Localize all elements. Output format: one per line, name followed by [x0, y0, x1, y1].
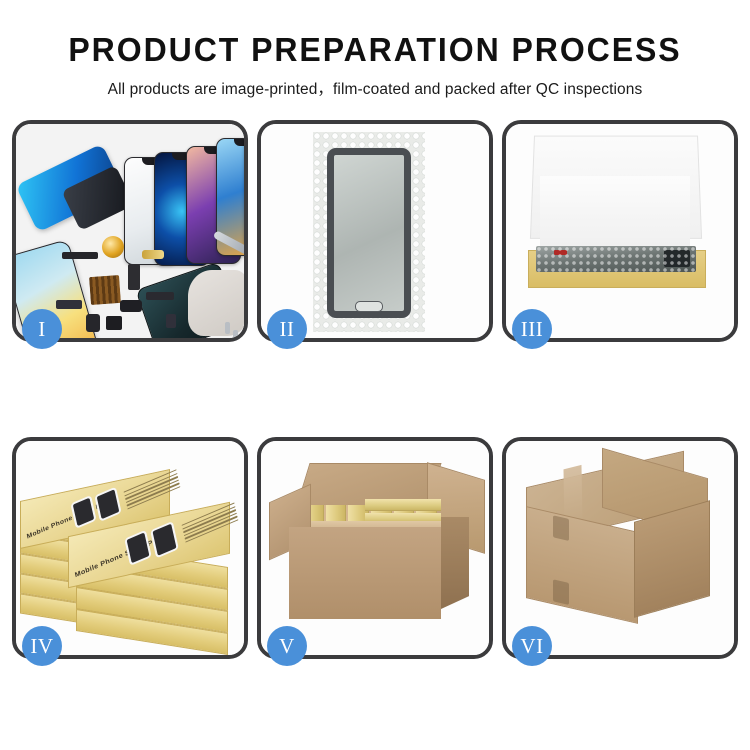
process-step-panel-4: Mobile Phone Spare Parts Mobile Phone Sp…: [12, 437, 248, 659]
box-stack: Mobile Phone Spare Parts Mobile Phone Sp…: [20, 463, 230, 643]
screw-part: [225, 322, 230, 334]
carton-right-face: [634, 500, 710, 618]
process-step-panel-6: VI: [502, 437, 738, 659]
wrapped-phone-screen: [327, 148, 411, 318]
process-step-panel-5: V: [257, 437, 493, 659]
bubble-wrap-sheet: [313, 132, 425, 332]
antenna-cable-part: [146, 292, 174, 300]
process-step-panel-2: II: [257, 120, 493, 342]
wrapped-screen-in-box: [536, 246, 696, 272]
page-title: PRODUCT PREPARATION PROCESS: [11, 33, 739, 66]
panel-4-image: Mobile Phone Spare Parts Mobile Phone Sp…: [16, 441, 244, 655]
carton-front-face: [526, 506, 638, 624]
carton-handle-notch: [553, 515, 569, 541]
chip-array-part: [89, 275, 121, 305]
button-part: [166, 314, 176, 328]
flex-cable-part: [62, 252, 98, 259]
page-subtitle: All products are image-printed，film-coat…: [0, 77, 750, 99]
box-thumbnail: [127, 532, 150, 563]
panel-3-image: [506, 124, 734, 338]
process-step-panel-1: I: [12, 120, 248, 342]
panel-2-image: [261, 124, 489, 338]
hand-holding-part: [188, 270, 244, 336]
carton-front-face: [289, 527, 441, 619]
screw-part: [233, 330, 238, 338]
foam-liner: [540, 176, 690, 252]
red-label-sticker: [554, 250, 567, 255]
box-thumbnail: [97, 489, 120, 519]
step-badge-1: I: [22, 309, 62, 349]
step-badge-4: IV: [22, 626, 62, 666]
carton-handle-notch: [553, 579, 569, 605]
process-step-panel-3: III: [502, 120, 738, 342]
step-badge-5: V: [267, 626, 307, 666]
panel-5-image: [261, 441, 489, 655]
box-spec-lines: [124, 469, 181, 509]
step-badge-6: VI: [512, 626, 552, 666]
screen-connector-area: [664, 250, 690, 267]
camera-module-part: [120, 300, 142, 312]
gold-coil-part: [102, 236, 124, 258]
step-badge-2: II: [267, 309, 307, 349]
home-button: [355, 301, 383, 312]
page-header: PRODUCT PREPARATION PROCESS All products…: [0, 0, 750, 99]
box-thumbnail: [153, 524, 177, 556]
gold-connector-part: [142, 250, 164, 259]
speaker-part: [86, 314, 100, 332]
box-spec-lines: [182, 502, 239, 542]
process-panel-grid: I II III: [0, 120, 750, 659]
small-cable-part: [56, 300, 82, 309]
step-badge-3: III: [512, 309, 552, 349]
panel-1-image: [16, 124, 244, 338]
box-thumbnail: [73, 498, 94, 527]
carton-side-face: [441, 517, 469, 609]
flex-strip-part: [128, 264, 140, 290]
panel-6-image: [506, 441, 734, 655]
vibrator-part: [106, 316, 122, 330]
